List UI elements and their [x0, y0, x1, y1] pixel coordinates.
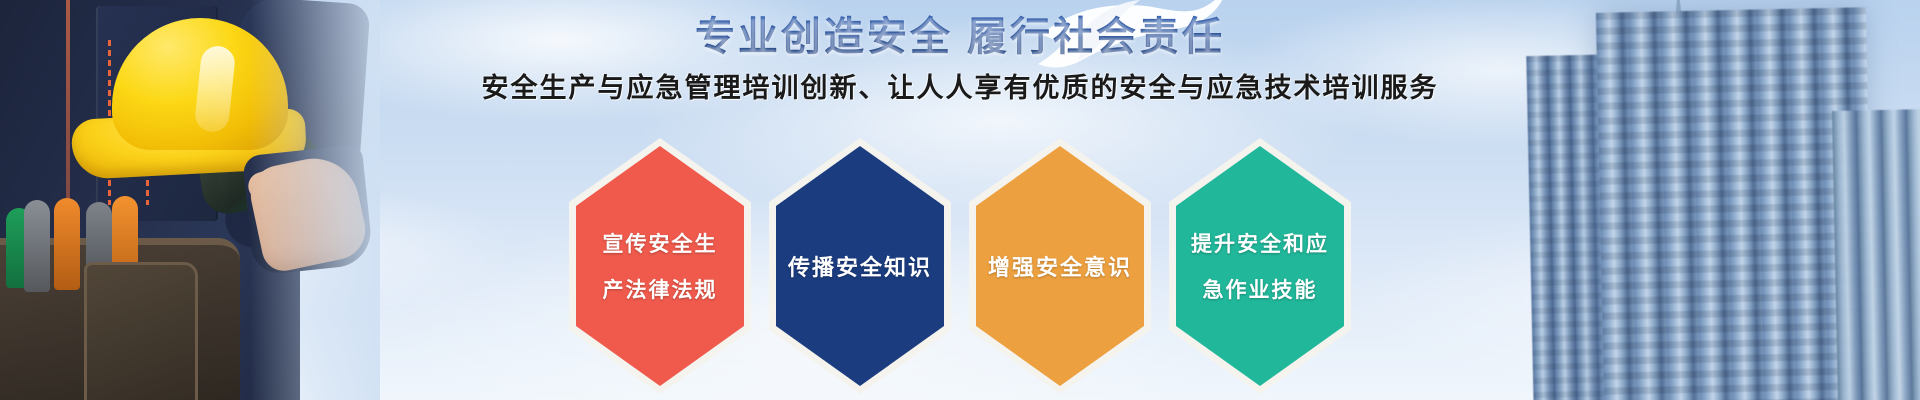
badge-emergency-skill[interactable]: 提升安全和应急作业技能	[1169, 138, 1351, 394]
badge-label: 增强安全意识	[988, 250, 1132, 282]
badge-safety-knowledge[interactable]: 传播安全知识	[769, 138, 951, 394]
badge-label: 宣传安全生	[603, 228, 718, 258]
badge-label: 急作业技能	[1203, 274, 1318, 304]
promo-banner: 专业创造安全 履行社会责任 安全生产与应急管理培训创新、让人人享有优质的安全与应…	[0, 0, 1920, 400]
badge-label: 产法律法规	[603, 274, 718, 304]
badge-label: 传播安全知识	[788, 250, 932, 282]
badge-label: 提升安全和应	[1191, 228, 1329, 258]
badge-row: 宣传安全生产法律法规传播安全知识增强安全意识提升安全和应急作业技能	[0, 138, 1920, 394]
badge-safety-law[interactable]: 宣传安全生产法律法规	[569, 138, 751, 394]
badge-safety-awareness[interactable]: 增强安全意识	[969, 138, 1151, 394]
page-subtitle: 安全生产与应急管理培训创新、让人人享有优质的安全与应急技术培训服务	[0, 66, 1920, 105]
page-title: 专业创造安全 履行社会责任	[0, 4, 1920, 62]
